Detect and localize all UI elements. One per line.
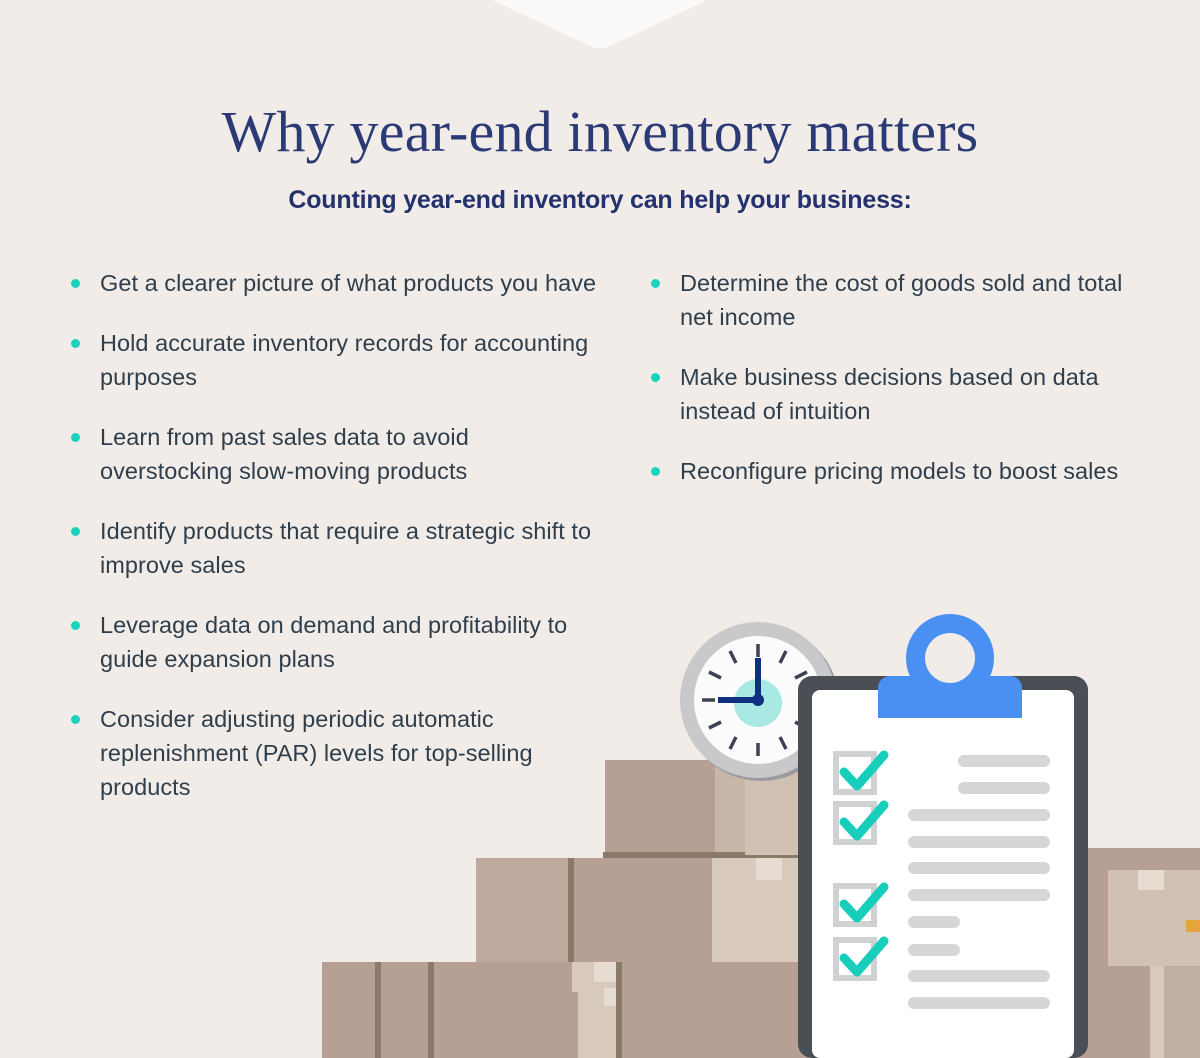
- list-item: Make business decisions based on data in…: [648, 360, 1138, 428]
- list-item: Leverage data on demand and profitabilit…: [68, 608, 598, 676]
- list-item-text: Reconfigure pricing models to boost sale…: [680, 458, 1118, 484]
- page-title: Why year-end inventory matters: [0, 98, 1200, 165]
- bullet-dot-icon: [71, 621, 80, 630]
- list-item-text: Consider adjusting periodic automatic re…: [100, 706, 533, 800]
- list-item: Learn from past sales data to avoid over…: [68, 420, 598, 488]
- list-item-text: Identify products that require a strateg…: [100, 518, 591, 578]
- list-item-text: Leverage data on demand and profitabilit…: [100, 612, 567, 672]
- list-item: Hold accurate inventory records for acco…: [68, 326, 598, 394]
- top-chevron-notch: [490, 0, 710, 51]
- inventory-checklist-clipboard: [798, 614, 1088, 1058]
- list-item-text: Hold accurate inventory records for acco…: [100, 330, 588, 390]
- list-item: Consider adjusting periodic automatic re…: [68, 702, 598, 804]
- list-item-text: Learn from past sales data to avoid over…: [100, 424, 469, 484]
- benefits-list-left: Get a clearer picture of what products y…: [68, 266, 598, 830]
- bullet-dot-icon: [71, 527, 80, 536]
- list-item-text: Determine the cost of goods sold and tot…: [680, 270, 1122, 330]
- bullet-dot-icon: [71, 279, 80, 288]
- bullet-dot-icon: [71, 433, 80, 442]
- list-item: Identify products that require a strateg…: [68, 514, 598, 582]
- bullet-dot-icon: [71, 715, 80, 724]
- page-subtitle: Counting year-end inventory can help you…: [0, 186, 1200, 215]
- bullet-dot-icon: [651, 373, 660, 382]
- bullet-dot-icon: [651, 279, 660, 288]
- list-item-text: Make business decisions based on data in…: [680, 364, 1099, 424]
- bullet-dot-icon: [71, 339, 80, 348]
- list-item: Get a clearer picture of what products y…: [68, 266, 598, 300]
- infographic-page: Why year-end inventory matters Counting …: [0, 0, 1200, 1058]
- bullet-dot-icon: [651, 467, 660, 476]
- list-item: Determine the cost of goods sold and tot…: [648, 266, 1138, 334]
- benefits-list-right: Determine the cost of goods sold and tot…: [648, 266, 1138, 514]
- list-item: Reconfigure pricing models to boost sale…: [648, 454, 1138, 488]
- list-item-text: Get a clearer picture of what products y…: [100, 270, 596, 296]
